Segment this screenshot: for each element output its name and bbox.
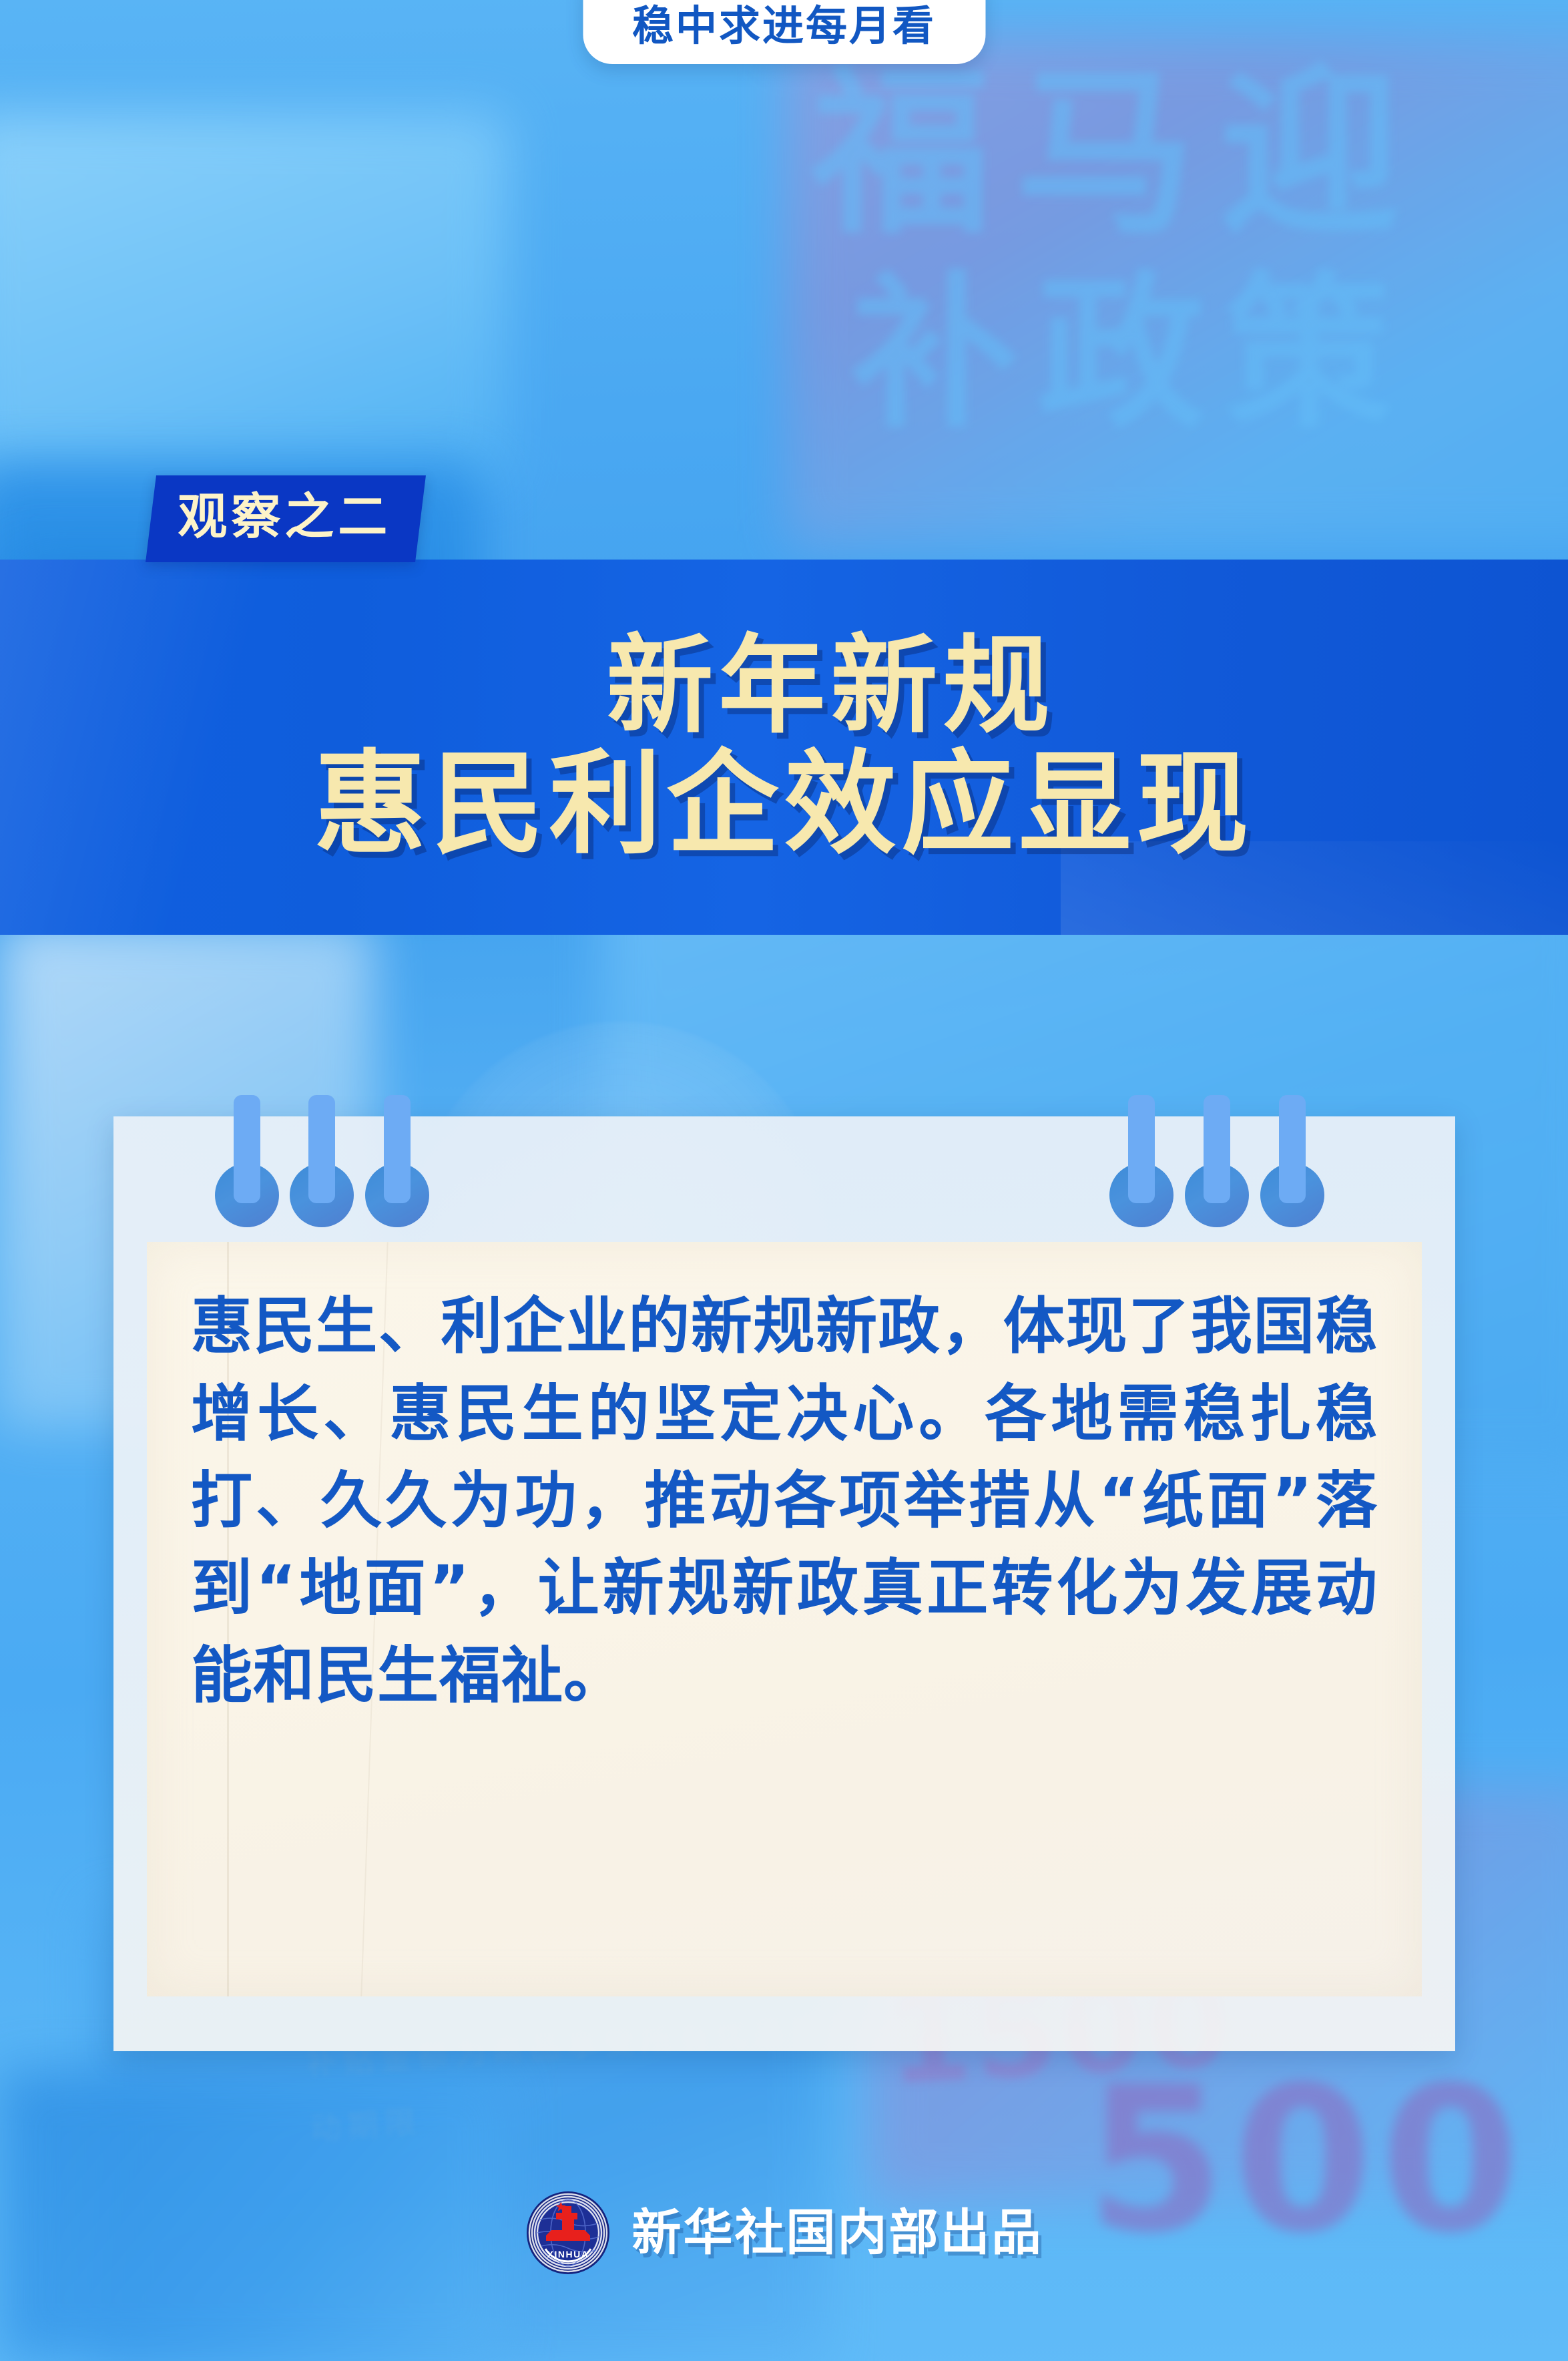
page-title-line-2: 惠民利企效应显现 — [314, 746, 1254, 864]
note-card: 惠民生、利企业的新规新政，体现了我国稳增长、惠民生的坚定决心。各地需稳扎稳打、久… — [113, 1116, 1455, 2051]
poster-root: 福马迎 补政策 500 1500 补贴金额为商品享受所有优惠折扣后金额 具体活动… — [0, 0, 1568, 2361]
background-blob-screen — [0, 114, 507, 487]
note-card-inner: 惠民生、利企业的新规新政，体现了我国稳增长、惠民生的坚定决心。各地需稳扎稳打、久… — [147, 1242, 1422, 1996]
note-paragraph: 惠民生、利企业的新规新政，体现了我国稳增长、惠民生的坚定决心。各地需稳扎稳打、久… — [191, 1283, 1378, 1719]
binding-ring-bar-lower — [1279, 1162, 1306, 1203]
binding-ring-bar-lower — [1128, 1162, 1155, 1203]
page-title-line-1: 新年新规 — [606, 630, 1055, 742]
binding-ring-bar-lower — [1204, 1162, 1230, 1203]
binding-ring-bar-lower — [384, 1162, 411, 1203]
xinhua-wordmark: XINHUA — [547, 2249, 589, 2260]
series-badge-label: 稳中求进每月看 — [632, 5, 936, 47]
background-ghost-text-line1: 福马迎 — [811, 63, 1424, 244]
footer-credit: 新华社国内部出品 — [632, 2208, 1043, 2258]
background-ghost-text-line2: 补政策 — [851, 270, 1412, 437]
xinhua-logo-icon: XINHUA — [525, 2190, 611, 2276]
binding-ring-bar-lower — [308, 1162, 335, 1203]
binding-ring-bar-lower — [234, 1162, 260, 1203]
footer: XINHUA 新华社国内部出品 — [0, 2190, 1568, 2276]
page-title: 新年新规 惠民利企效应显现 — [0, 560, 1568, 935]
note-card-text: 惠民生、利企业的新规新政，体现了我国稳增长、惠民生的坚定决心。各地需稳扎稳打、久… — [191, 1283, 1378, 1719]
section-tag: 观察之二 — [146, 475, 426, 562]
section-tag-label: 观察之二 — [178, 493, 391, 542]
series-badge[interactable]: 稳中求进每月看 — [583, 0, 985, 64]
